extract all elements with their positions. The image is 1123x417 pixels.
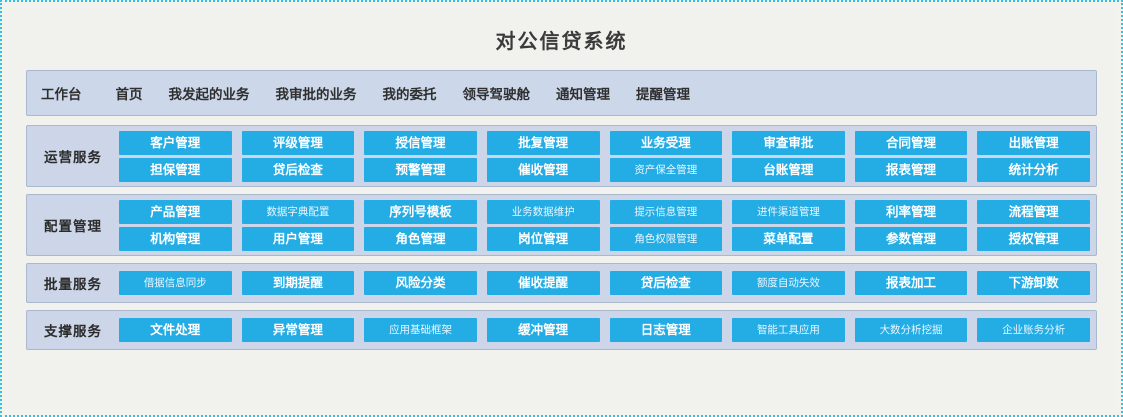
module-button[interactable]: 担保管理 bbox=[119, 158, 232, 182]
module-button[interactable]: 异常管理 bbox=[242, 318, 355, 342]
module-button[interactable]: 下游卸数 bbox=[977, 271, 1090, 295]
module-button[interactable]: 合同管理 bbox=[855, 131, 968, 155]
section-label: 配置管理 bbox=[27, 215, 119, 235]
module-button[interactable]: 报表管理 bbox=[855, 158, 968, 182]
module-button[interactable]: 缓冲管理 bbox=[487, 318, 600, 342]
page-title: 对公信贷系统 bbox=[496, 25, 628, 54]
module-button[interactable]: 风险分类 bbox=[364, 271, 477, 295]
module-button[interactable]: 用户管理 bbox=[242, 227, 355, 251]
module-button[interactable]: 企业账务分析 bbox=[977, 318, 1090, 342]
module-button[interactable]: 预警管理 bbox=[364, 158, 477, 182]
app-page: 对公信贷系统 工作台首页我发起的业务我审批的业务我的委托领导驾驶舱通知管理提醒管… bbox=[8, 8, 1115, 409]
module-button[interactable]: 借据信息同步 bbox=[119, 271, 232, 295]
module-button[interactable]: 菜单配置 bbox=[732, 227, 845, 251]
module-button[interactable]: 产品管理 bbox=[119, 200, 232, 224]
module-button[interactable]: 统计分析 bbox=[977, 158, 1090, 182]
module-button[interactable]: 应用基础框架 bbox=[364, 318, 477, 342]
module-button[interactable]: 批复管理 bbox=[487, 131, 600, 155]
main-navigation: 工作台首页我发起的业务我审批的业务我的委托领导驾驶舱通知管理提醒管理 bbox=[26, 70, 1097, 116]
section-label: 支撑服务 bbox=[27, 320, 119, 340]
module-button[interactable]: 文件处理 bbox=[119, 318, 232, 342]
section-label: 批量服务 bbox=[27, 273, 119, 293]
module-button[interactable]: 机构管理 bbox=[119, 227, 232, 251]
section-button-grid: 借据信息同步到期提醒风险分类催收提醒贷后检查额度自动失效报表加工下游卸数 bbox=[119, 271, 1090, 295]
module-button[interactable]: 出账管理 bbox=[977, 131, 1090, 155]
nav-item-0[interactable]: 工作台 bbox=[41, 83, 82, 103]
module-button[interactable]: 角色权限管理 bbox=[610, 227, 723, 251]
module-button[interactable]: 到期提醒 bbox=[242, 271, 355, 295]
module-button[interactable]: 角色管理 bbox=[364, 227, 477, 251]
nav-item-6[interactable]: 通知管理 bbox=[556, 83, 610, 103]
section-button-grid: 产品管理数据字典配置序列号模板业务数据维护提示信息管理进件渠道管理利率管理流程管… bbox=[119, 200, 1090, 251]
nav-item-7[interactable]: 提醒管理 bbox=[636, 83, 690, 103]
title-bar: 对公信贷系统 bbox=[26, 8, 1097, 70]
module-button[interactable]: 评级管理 bbox=[242, 131, 355, 155]
module-button[interactable]: 岗位管理 bbox=[487, 227, 600, 251]
nav-item-5[interactable]: 领导驾驶舱 bbox=[463, 83, 531, 103]
module-button[interactable]: 贷后检查 bbox=[610, 271, 723, 295]
nav-item-4[interactable]: 我的委托 bbox=[383, 83, 437, 103]
module-button[interactable]: 授信管理 bbox=[364, 131, 477, 155]
module-button[interactable]: 业务受理 bbox=[610, 131, 723, 155]
module-button[interactable]: 提示信息管理 bbox=[610, 200, 723, 224]
section-panel: 配置管理产品管理数据字典配置序列号模板业务数据维护提示信息管理进件渠道管理利率管… bbox=[26, 194, 1097, 256]
section-panel: 运营服务客户管理评级管理授信管理批复管理业务受理审查审批合同管理出账管理担保管理… bbox=[26, 125, 1097, 187]
module-button[interactable]: 流程管理 bbox=[977, 200, 1090, 224]
module-button[interactable]: 审查审批 bbox=[732, 131, 845, 155]
module-button[interactable]: 授权管理 bbox=[977, 227, 1090, 251]
nav-item-1[interactable]: 首页 bbox=[116, 83, 143, 103]
module-button[interactable]: 额度自动失效 bbox=[732, 271, 845, 295]
section-panel: 支撑服务文件处理异常管理应用基础框架缓冲管理日志管理智能工具应用大数分析挖掘企业… bbox=[26, 310, 1097, 350]
sections-container: 运营服务客户管理评级管理授信管理批复管理业务受理审查审批合同管理出账管理担保管理… bbox=[26, 125, 1097, 350]
nav-item-2[interactable]: 我发起的业务 bbox=[169, 83, 250, 103]
section-button-grid: 文件处理异常管理应用基础框架缓冲管理日志管理智能工具应用大数分析挖掘企业账务分析 bbox=[119, 318, 1090, 342]
module-button[interactable]: 催收提醒 bbox=[487, 271, 600, 295]
module-button[interactable]: 台账管理 bbox=[732, 158, 845, 182]
module-button[interactable]: 数据字典配置 bbox=[242, 200, 355, 224]
section-button-grid: 客户管理评级管理授信管理批复管理业务受理审查审批合同管理出账管理担保管理贷后检查… bbox=[119, 131, 1090, 182]
module-button[interactable]: 进件渠道管理 bbox=[732, 200, 845, 224]
module-button[interactable]: 利率管理 bbox=[855, 200, 968, 224]
section-panel: 批量服务借据信息同步到期提醒风险分类催收提醒贷后检查额度自动失效报表加工下游卸数 bbox=[26, 263, 1097, 303]
section-label: 运营服务 bbox=[27, 146, 119, 166]
module-button[interactable]: 日志管理 bbox=[610, 318, 723, 342]
nav-item-3[interactable]: 我审批的业务 bbox=[276, 83, 357, 103]
module-button[interactable]: 智能工具应用 bbox=[732, 318, 845, 342]
module-button[interactable]: 催收管理 bbox=[487, 158, 600, 182]
app-screen: 对公信贷系统 工作台首页我发起的业务我审批的业务我的委托领导驾驶舱通知管理提醒管… bbox=[0, 0, 1123, 417]
module-button[interactable]: 序列号模板 bbox=[364, 200, 477, 224]
module-button[interactable]: 资产保全管理 bbox=[610, 158, 723, 182]
module-button[interactable]: 报表加工 bbox=[855, 271, 968, 295]
module-button[interactable]: 客户管理 bbox=[119, 131, 232, 155]
module-button[interactable]: 大数分析挖掘 bbox=[855, 318, 968, 342]
module-button[interactable]: 贷后检查 bbox=[242, 158, 355, 182]
module-button[interactable]: 业务数据维护 bbox=[487, 200, 600, 224]
module-button[interactable]: 参数管理 bbox=[855, 227, 968, 251]
